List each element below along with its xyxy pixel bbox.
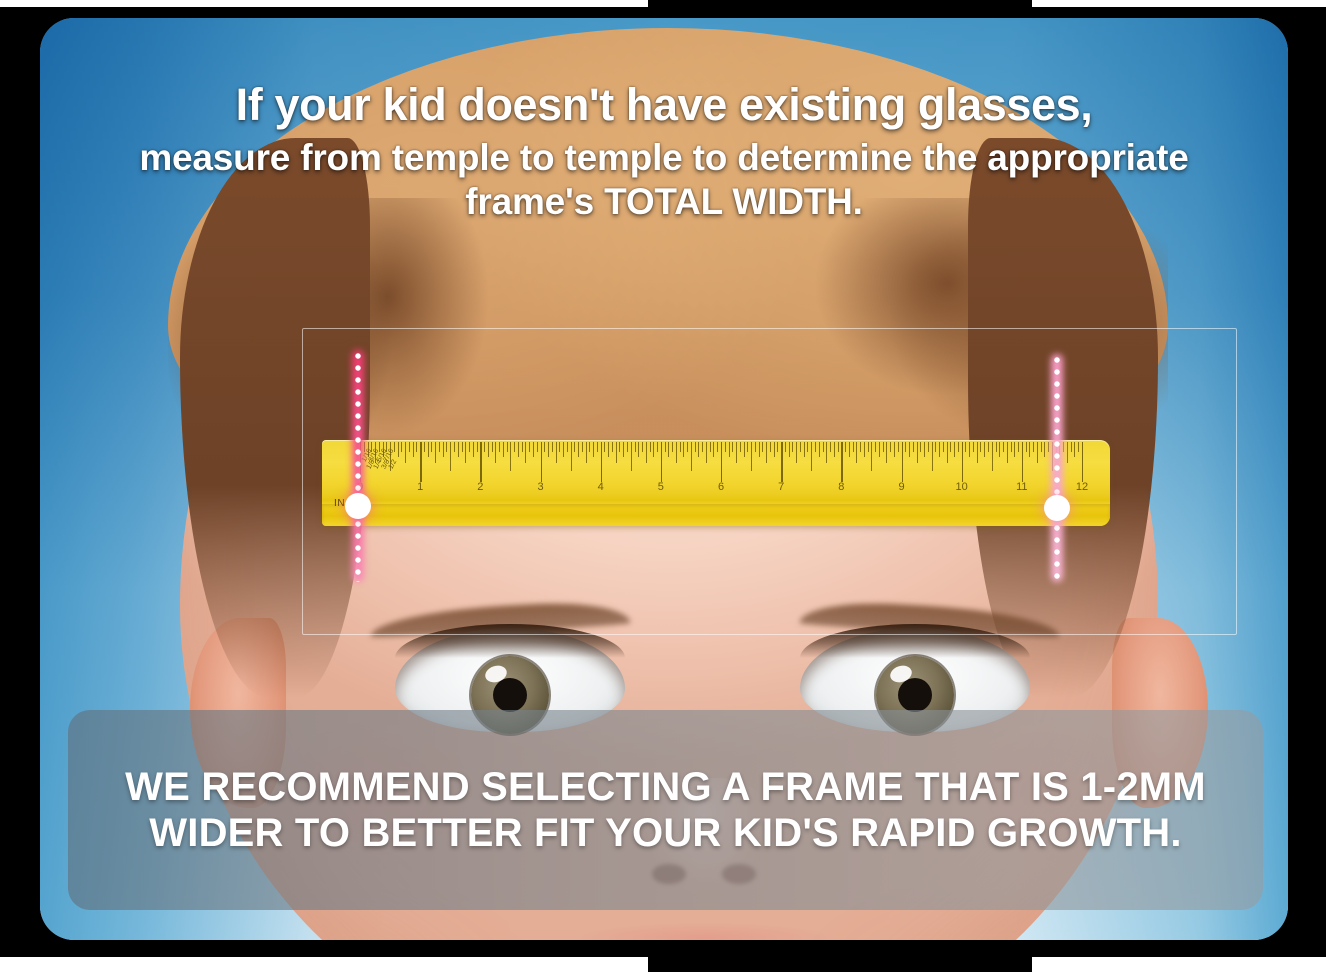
ruler-tick	[747, 442, 748, 452]
ruler-tick	[920, 442, 921, 452]
ruler-tick	[980, 442, 981, 452]
ruler-tick	[811, 442, 812, 471]
ruler-tick	[1011, 442, 1012, 452]
ruler-tick	[1071, 442, 1072, 452]
ruler-tick	[416, 442, 417, 452]
ruler-tick	[789, 442, 790, 457]
ruler-number-label: 9	[898, 481, 904, 493]
ruler-tick	[597, 442, 598, 452]
ruler-tick	[665, 442, 666, 452]
ruler-tick	[661, 442, 662, 482]
ruler-tick	[841, 442, 842, 482]
ruler-tick	[503, 442, 504, 457]
ruler-tick	[488, 442, 489, 457]
ruler-tick	[740, 442, 741, 452]
ruler-tick	[484, 442, 485, 452]
ruler-tick	[544, 442, 545, 452]
headline-block: If your kid doesn't have existing glasse…	[40, 80, 1288, 224]
ruler-tick	[800, 442, 801, 452]
ruler-tick	[683, 442, 684, 457]
ruler-tick	[1018, 442, 1019, 452]
ruler-tick	[653, 442, 654, 457]
ruler-tick	[420, 442, 421, 482]
ruler-tick	[702, 442, 703, 452]
ruler-tick	[969, 442, 970, 457]
ruler-tick	[898, 442, 899, 452]
ruler-tick	[774, 442, 775, 457]
ruler-tick	[462, 442, 463, 452]
measurement-marker-left[interactable]	[351, 350, 365, 582]
ruler-tick	[1037, 442, 1038, 463]
ruler-tick	[736, 442, 737, 463]
marker-dotted-line-left	[353, 350, 363, 582]
ruler-tick	[529, 442, 530, 452]
ruler-tick	[710, 442, 711, 452]
ruler-tick	[446, 442, 447, 452]
ruler-tick	[868, 442, 869, 452]
ruler-tick	[398, 442, 399, 457]
ruler-tick	[1067, 442, 1068, 463]
ruler-number-label: 8	[838, 481, 844, 493]
ruler-tick	[1022, 442, 1023, 482]
ruler-tick	[435, 442, 436, 463]
ruler-tick	[450, 442, 451, 471]
ruler-tick	[510, 442, 511, 471]
ruler-tick	[1003, 442, 1004, 452]
ruler-number-label: 2	[477, 481, 483, 493]
ruler-tick	[616, 442, 617, 463]
ruler-tick	[826, 442, 827, 463]
ruler-tick	[875, 442, 876, 452]
ruler-tick	[928, 442, 929, 452]
ruler-tick	[646, 442, 647, 463]
ruler-tick	[495, 442, 496, 463]
ruler-tick	[567, 442, 568, 452]
ruler-tick	[556, 442, 557, 463]
ruler-tick	[917, 442, 918, 463]
ruler-tick	[856, 442, 857, 463]
ruler-tick	[1014, 442, 1015, 457]
ruler-tick	[864, 442, 865, 457]
ruler-tick	[499, 442, 500, 452]
instruction-card: 01234567891011121/161/83/161/45/163/87/1…	[40, 18, 1288, 940]
eyelash-right	[800, 624, 1030, 658]
ruler-tick	[604, 442, 605, 452]
ruler-tick	[890, 442, 891, 452]
ruler-number-label: 1	[417, 481, 423, 493]
ruler-tick	[401, 442, 402, 452]
ruler-tick	[781, 442, 782, 482]
ruler-tick	[751, 442, 752, 471]
ruler-tick	[431, 442, 432, 452]
headline-secondary: measure from temple to temple to determi…	[80, 136, 1248, 223]
recommendation-text: WE RECOMMEND SELECTING A FRAME THAT IS 1…	[68, 764, 1263, 857]
ruler-tick	[608, 442, 609, 457]
ruler-tick	[913, 442, 914, 452]
ruler-tick	[860, 442, 861, 452]
ruler-tick	[886, 442, 887, 463]
ruler-tick	[729, 442, 730, 457]
ruler-tick	[879, 442, 880, 457]
ruler-tick	[638, 442, 639, 457]
ruler-tick	[999, 442, 1000, 457]
ruler-tick	[894, 442, 895, 457]
ruler-tick	[582, 442, 583, 452]
ruler-tick	[480, 442, 481, 482]
ruler-tick	[807, 442, 808, 452]
ruler-tick	[514, 442, 515, 452]
ruler-tick	[924, 442, 925, 457]
pupil-left	[493, 678, 527, 712]
ruler-tick	[838, 442, 839, 452]
ruler-lower-band	[322, 504, 1110, 526]
ruler-tick	[1026, 442, 1027, 452]
ruler-tick	[744, 442, 745, 457]
ruler-tick	[804, 442, 805, 457]
ruler-tick	[424, 442, 425, 452]
ruler-tick	[796, 442, 797, 463]
ruler-tick	[947, 442, 948, 463]
ruler-tick	[909, 442, 910, 457]
ruler-tick	[996, 442, 997, 452]
ruler-tick	[992, 442, 993, 471]
ruler-tick	[762, 442, 763, 452]
ruler-tick	[815, 442, 816, 452]
ruler-tick	[755, 442, 756, 452]
ruler-tick	[849, 442, 850, 457]
ruler-tick	[977, 442, 978, 463]
ruler-tick	[785, 442, 786, 452]
ruler-tick	[635, 442, 636, 452]
ruler-tick	[537, 442, 538, 452]
ruler-tick	[691, 442, 692, 471]
ruler-tick	[1078, 442, 1079, 452]
ruler-tick	[725, 442, 726, 452]
ruler-number-label: 6	[718, 481, 724, 493]
marker-dotted-line-right	[1052, 354, 1062, 582]
ruler-tick	[469, 442, 470, 452]
ruler-tick	[559, 442, 560, 452]
ruler-tick	[1033, 442, 1034, 452]
recommendation-banner: WE RECOMMEND SELECTING A FRAME THAT IS 1…	[68, 710, 1263, 910]
ruler-number-label: 12	[1076, 481, 1088, 493]
ruler-number-label: 7	[778, 481, 784, 493]
ruler-number-label: 4	[598, 481, 604, 493]
ruler-tick	[563, 442, 564, 457]
ruler-tick	[405, 442, 406, 463]
ruler-tick	[578, 442, 579, 457]
ruler-tick	[935, 442, 936, 452]
ruler-tick	[642, 442, 643, 452]
ruler-tick	[574, 442, 575, 452]
ruler-tick	[428, 442, 429, 457]
eyelash-left	[395, 624, 625, 658]
ruler-tick	[830, 442, 831, 452]
ruler-tick	[672, 442, 673, 452]
ruler-tick	[619, 442, 620, 452]
ruler-tick	[965, 442, 966, 452]
ruler-tick	[871, 442, 872, 471]
ruler-tick	[650, 442, 651, 452]
ruler-tick	[905, 442, 906, 452]
ruler-tick	[853, 442, 854, 452]
ruler-tick	[973, 442, 974, 452]
ruler-tick	[732, 442, 733, 452]
ruler-tick	[792, 442, 793, 452]
ruler-tick	[834, 442, 835, 457]
marker-handle-right[interactable]	[1044, 495, 1070, 521]
ruler-tick	[439, 442, 440, 452]
measurement-marker-right[interactable]	[1050, 354, 1064, 582]
ruler-number-label: 5	[658, 481, 664, 493]
ruler-tick	[627, 442, 628, 452]
ruler-tick	[1029, 442, 1030, 457]
ruler-tick	[623, 442, 624, 457]
ruler-tick	[823, 442, 824, 452]
ruler-tick	[943, 442, 944, 452]
ruler-tick	[473, 442, 474, 457]
ruler-tick	[612, 442, 613, 452]
ruler-tick	[721, 442, 722, 482]
ruler-tick	[586, 442, 587, 463]
ruler-tick	[409, 442, 410, 452]
ruler-tick	[819, 442, 820, 457]
screenshot-viewport: 01234567891011121/161/83/161/45/163/87/1…	[0, 0, 1326, 980]
ruler-tick	[601, 442, 602, 482]
ruler-tick	[1048, 442, 1049, 452]
ruler-tick	[950, 442, 951, 452]
ruler-tick	[507, 442, 508, 452]
ruler-tick	[962, 442, 963, 482]
ruler-tick	[766, 442, 767, 463]
ruler-tick	[958, 442, 959, 452]
ruler-tick	[522, 442, 523, 452]
ruler-tick	[465, 442, 466, 463]
ruler-tick	[477, 442, 478, 452]
marker-handle-left[interactable]	[345, 493, 371, 519]
pupil-right	[898, 678, 932, 712]
ruler-tick	[413, 442, 414, 457]
ruler-tick	[695, 442, 696, 452]
ruler-tick	[717, 442, 718, 452]
ruler-tick	[518, 442, 519, 457]
ruler-tick	[984, 442, 985, 457]
ruler-tick	[589, 442, 590, 452]
ruler-number-label: 3	[537, 481, 543, 493]
ruler-tick	[668, 442, 669, 457]
ruler-tick	[541, 442, 542, 482]
ruler-tick	[1041, 442, 1042, 452]
ruler-tick	[1007, 442, 1008, 463]
ruler-tick	[593, 442, 594, 457]
ruler-tick	[698, 442, 699, 457]
ruler-tick	[552, 442, 553, 452]
headline-primary: If your kid doesn't have existing glasse…	[80, 80, 1248, 130]
ruler-number-label: 10	[956, 481, 968, 493]
ruler-tick	[687, 442, 688, 452]
ruler-tick	[1074, 442, 1075, 457]
ruler-tick	[988, 442, 989, 452]
ruler-tick	[525, 442, 526, 463]
ruler-tick	[1082, 442, 1083, 482]
ruler-tick	[657, 442, 658, 452]
ruler-overlay: 01234567891011121/161/83/161/45/163/87/1…	[322, 440, 1110, 526]
ruler-tick	[533, 442, 534, 457]
ruler-tick	[492, 442, 493, 452]
ruler-tick	[676, 442, 677, 463]
ruler-tick	[680, 442, 681, 452]
ruler-tick	[902, 442, 903, 482]
ruler-tick	[932, 442, 933, 471]
ruler-tick	[454, 442, 455, 452]
ruler-tick	[939, 442, 940, 457]
ruler-tick	[631, 442, 632, 471]
ruler-tick	[777, 442, 778, 452]
ruler-tick	[548, 442, 549, 457]
ruler-number-label: 11	[1016, 481, 1027, 493]
ruler-tick-marks: 01234567891011121/161/83/161/45/163/87/1…	[322, 440, 1110, 500]
ruler-tick	[759, 442, 760, 457]
ruler-tick	[845, 442, 846, 452]
ruler-tick	[954, 442, 955, 457]
ruler-tick	[770, 442, 771, 452]
ruler-tick	[458, 442, 459, 457]
ruler-tick	[713, 442, 714, 457]
ruler-tick	[1044, 442, 1045, 457]
ruler-tick	[571, 442, 572, 471]
ruler-tick	[706, 442, 707, 463]
ruler-tick	[883, 442, 884, 452]
ruler-tick	[443, 442, 444, 457]
